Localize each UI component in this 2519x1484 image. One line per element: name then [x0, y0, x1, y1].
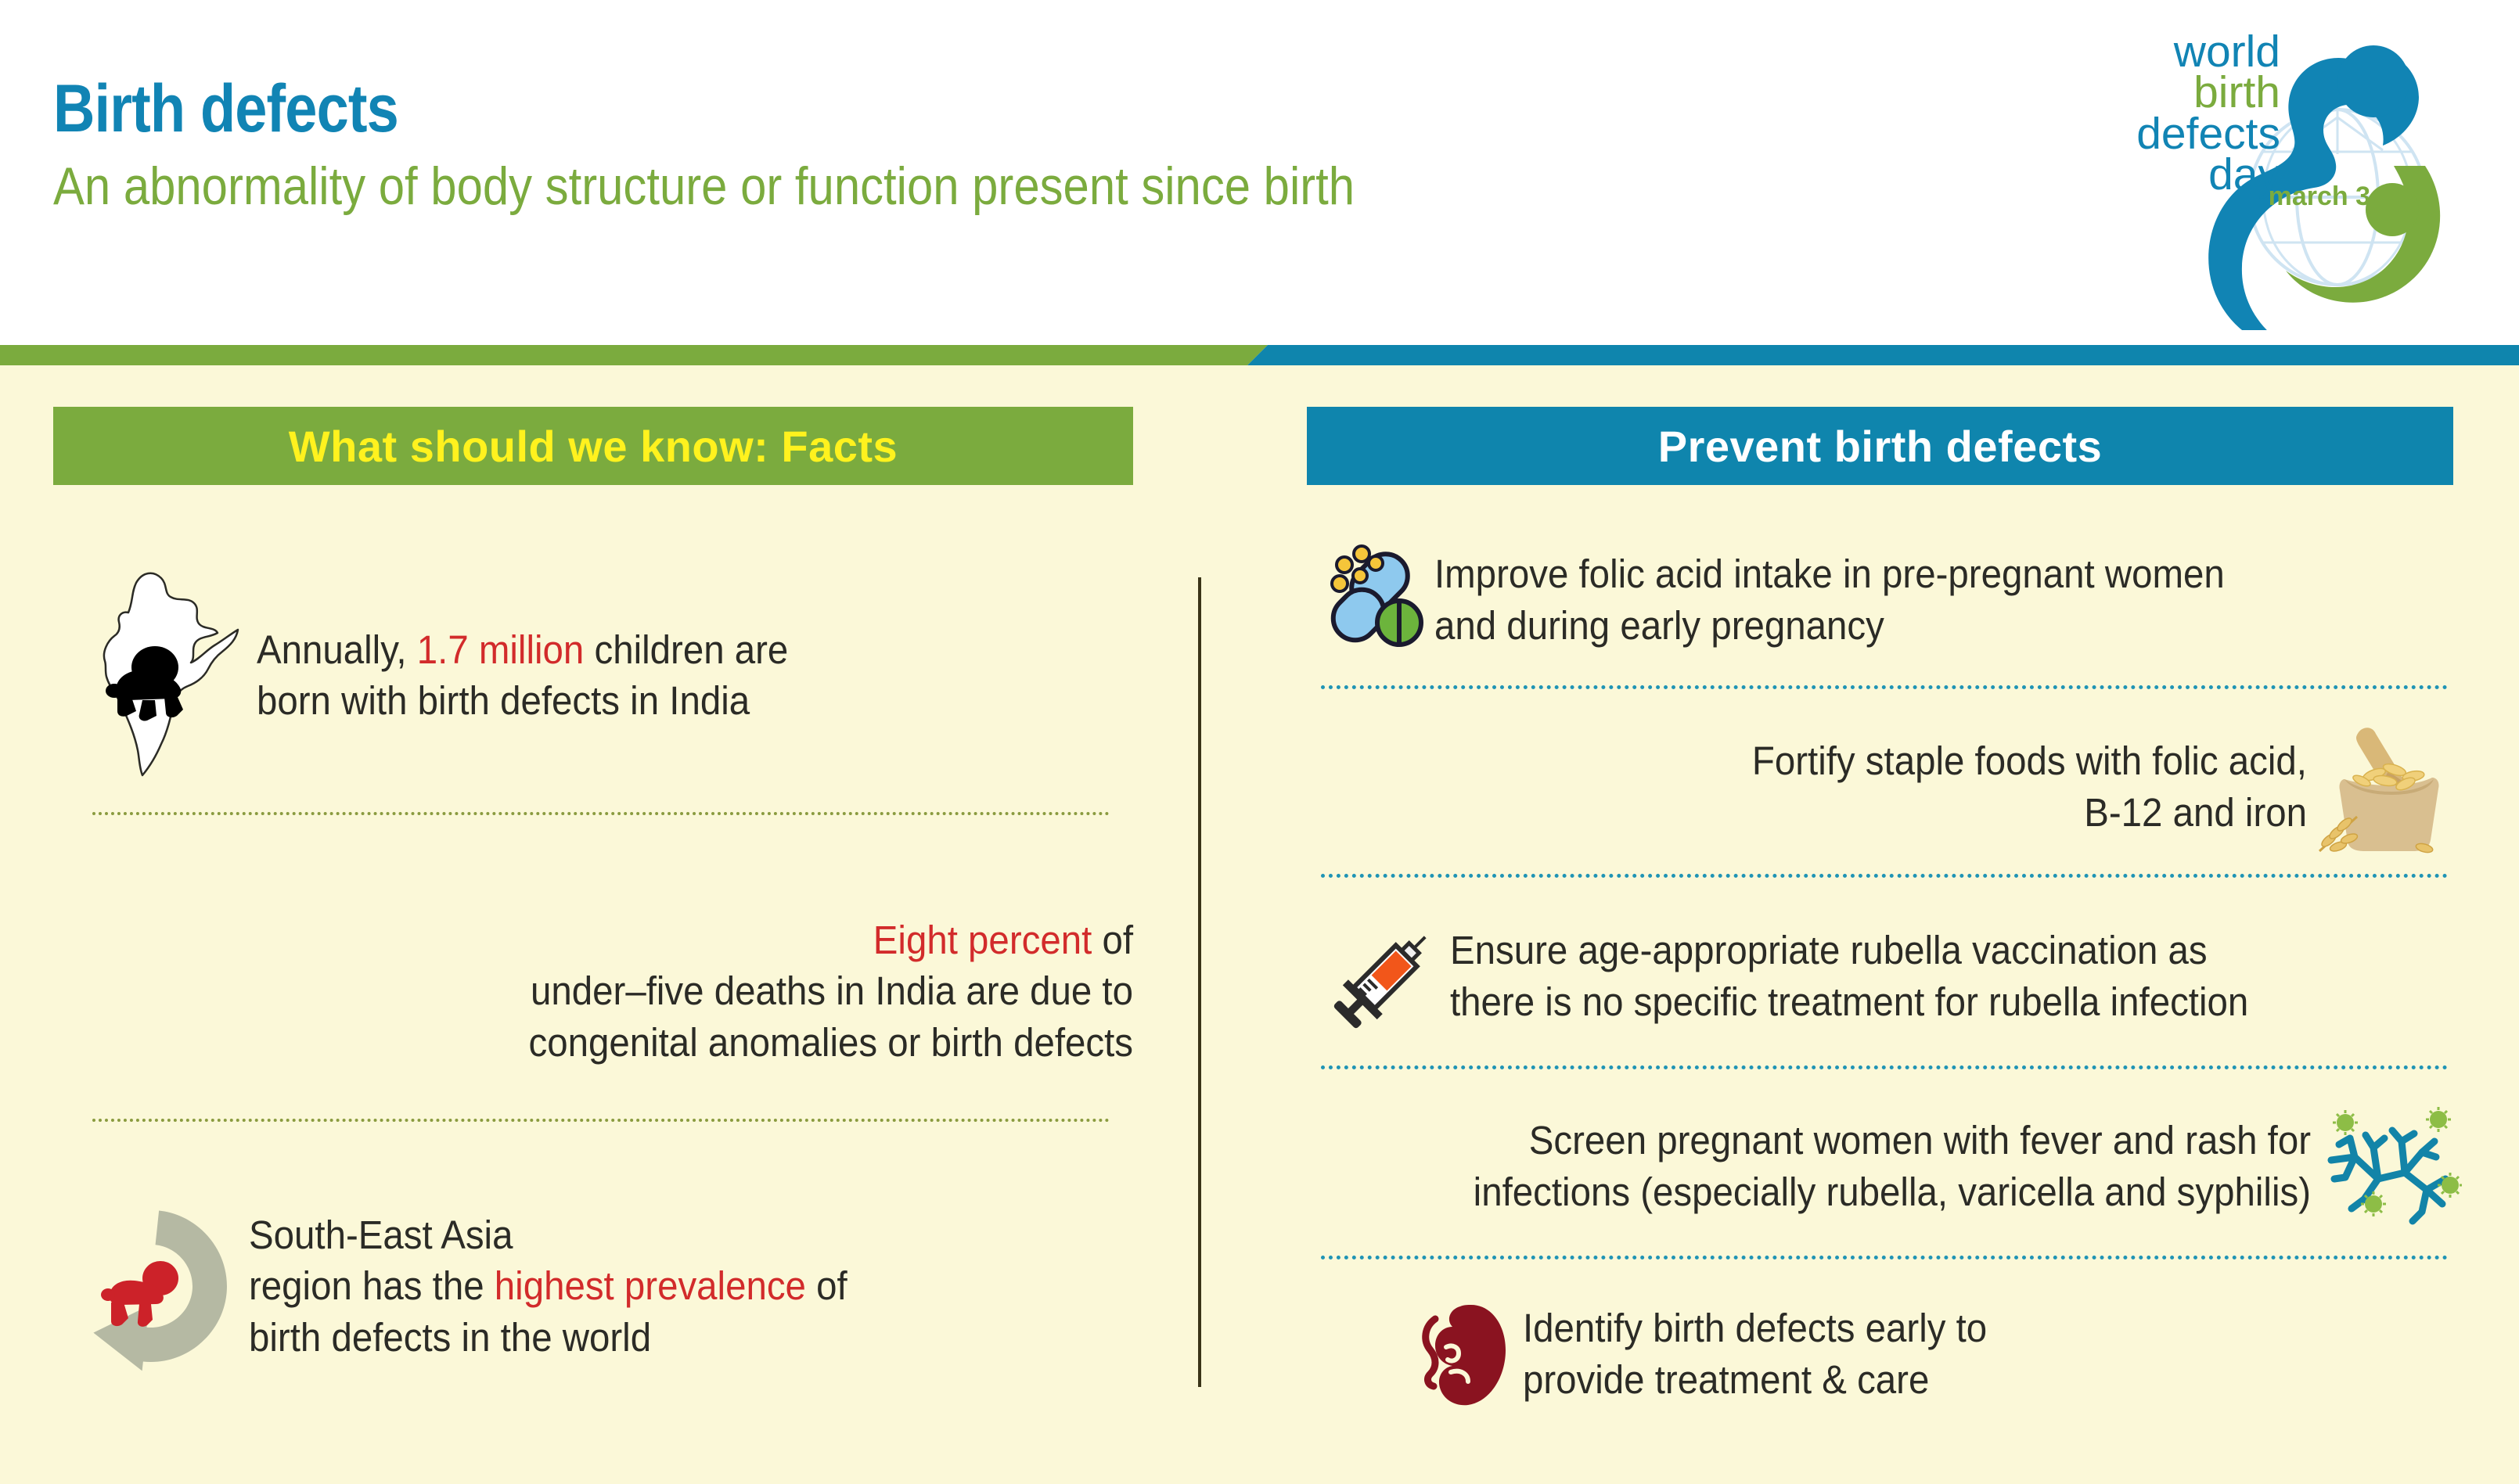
- prevent-item-3: Ensure age-appropriate rubella vaccinati…: [1321, 906, 2467, 1047]
- facts-column: What should we know: Facts Annually, 1.7…: [53, 407, 1133, 1396]
- prevent-4-line1: Screen pregnant women with fever and ras…: [1303, 1115, 2311, 1166]
- prevent-2-line2: B-12 and iron: [1390, 787, 2307, 839]
- prevent-divider-2: [1321, 874, 2448, 878]
- divider-blue-segment: [1247, 345, 2519, 365]
- fact-2-line3: congenital anomalies or birth defects: [165, 1017, 1133, 1068]
- header-divider-bar: [0, 345, 2519, 365]
- logo-date: march 3: [2269, 185, 2370, 209]
- prevent-section-heading: Prevent birth defects: [1307, 407, 2453, 485]
- prevent-item-1: Improve folic acid intake in pre-pregnan…: [1321, 534, 2467, 667]
- page-header: Birth defects An abnormality of body str…: [0, 0, 2519, 345]
- prevent-4-text: Screen pregnant women with fever and ras…: [1303, 1115, 2311, 1219]
- prevent-2-line1: Fortify staple foods with folic acid,: [1390, 735, 2307, 787]
- prevent-4-line2: infections (especially rubella, varicell…: [1303, 1166, 2311, 1218]
- prevent-divider-1: [1321, 685, 2448, 689]
- facts-divider-1: [92, 812, 1110, 815]
- pills-capsule-icon: [1321, 541, 1434, 659]
- column-divider: [1198, 577, 1201, 1387]
- prevent-1-line1: Improve folic acid intake in pre-pregnan…: [1434, 548, 2225, 600]
- prevent-3-line2: there is no specific treatment for rubel…: [1450, 976, 2248, 1028]
- fact-item-2: Eight percent of under–five deaths in In…: [53, 893, 1133, 1089]
- logo-line-defects: defects: [2042, 113, 2280, 154]
- fact-2-line1-post: of: [1092, 918, 1133, 962]
- facts-divider-2: [92, 1119, 1110, 1122]
- divider-green-segment: [0, 345, 1268, 365]
- page-title: Birth defects: [53, 75, 1325, 142]
- fact-1-line1-pre: Annually,: [257, 627, 417, 672]
- india-map-with-baby-icon: [53, 566, 257, 785]
- prevent-divider-4: [1321, 1256, 2448, 1259]
- fact-1-highlight: 1.7 million: [417, 627, 585, 672]
- title-block: Birth defects An abnormality of body str…: [53, 75, 1532, 213]
- fact-3-line3: birth defects in the world: [249, 1312, 847, 1363]
- fact-3-highlight: highest prevalence: [495, 1263, 806, 1308]
- prevent-2-text: Fortify staple foods with folic acid, B-…: [1390, 735, 2307, 839]
- fact-1-text: Annually, 1.7 million children are born …: [257, 624, 788, 727]
- prevent-5-line2: provide treatment & care: [1523, 1354, 1987, 1406]
- facts-section-heading: What should we know: Facts: [53, 407, 1133, 485]
- fact-1-line1-post: children are: [584, 627, 788, 672]
- prevent-1-text: Improve folic acid intake in pre-pregnan…: [1434, 548, 2225, 652]
- fact-3-line2-pre: region has the: [249, 1263, 495, 1308]
- fact-item-1: Annually, 1.7 million children are born …: [53, 577, 1133, 773]
- fact-3-line1: South-East Asia: [249, 1209, 847, 1260]
- recycle-arrow-with-crawling-baby-icon: [53, 1196, 249, 1376]
- fetus-icon: [1405, 1295, 1523, 1413]
- logo-line-world: world: [2042, 31, 2280, 72]
- fact-2-line2: under–five deaths in India are due to: [165, 965, 1133, 1016]
- prevent-item-4: Screen pregnant women with fever and ras…: [1321, 1096, 2467, 1237]
- prevent-item-2: Fortify staple foods with folic acid, B-…: [1321, 713, 2467, 861]
- prevent-item-5: Identify birth defects early to provide …: [1405, 1288, 2467, 1421]
- prevent-3-text: Ensure age-appropriate rubella vaccinati…: [1450, 925, 2248, 1029]
- logo-wordmark: world birth defects day march 3: [2042, 31, 2280, 196]
- prevent-3-line1: Ensure age-appropriate rubella vaccinati…: [1450, 925, 2248, 976]
- logo-line-birth: birth: [2042, 72, 2280, 113]
- virus-neuron-icon: [2311, 1104, 2467, 1229]
- fact-1-line2: born with birth defects in India: [257, 675, 788, 726]
- fact-3-text: South-East Asia region has the highest p…: [249, 1209, 847, 1363]
- prevent-divider-3: [1321, 1065, 2448, 1069]
- fact-3-line2-post: of: [806, 1263, 847, 1308]
- prevent-column: Prevent birth defects I: [1321, 407, 2467, 1421]
- logo-line-day: day: [2042, 154, 2280, 195]
- page-subtitle: An abnormality of body structure or func…: [53, 160, 1355, 213]
- prevent-1-line2: and during early pregnancy: [1434, 600, 2225, 652]
- fact-2-highlight: Eight percent: [873, 918, 1092, 962]
- grain-sack-icon: [2307, 717, 2467, 857]
- fact-2-text: Eight percent of under–five deaths in In…: [165, 914, 1133, 1068]
- fact-item-3: South-East Asia region has the highest p…: [53, 1177, 1133, 1396]
- prevent-5-line1: Identify birth defects early to: [1523, 1303, 1987, 1354]
- syringe-icon: [1321, 918, 1450, 1035]
- world-birth-defects-day-logo: world birth defects day march 3: [2042, 17, 2464, 330]
- prevent-5-text: Identify birth defects early to provide …: [1523, 1303, 1987, 1407]
